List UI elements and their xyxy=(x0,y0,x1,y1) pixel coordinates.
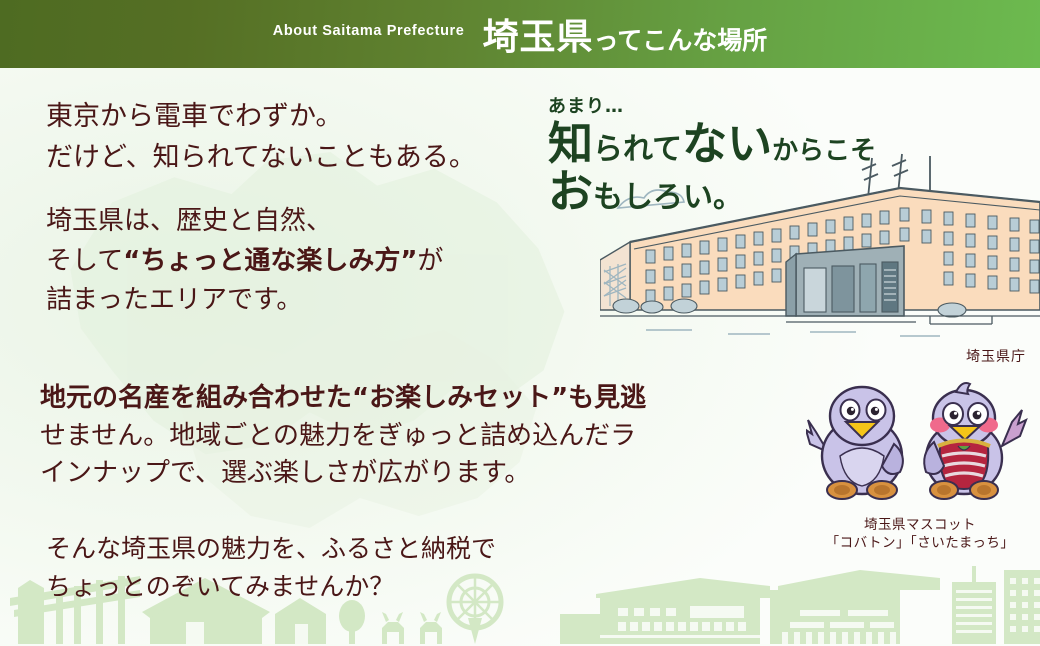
para2-emphasis: “ちょっと通な楽しみ方” xyxy=(123,246,417,276)
office-caption: 埼玉県庁 xyxy=(966,346,1026,366)
para1-line1: 東京から電車でわずか。 xyxy=(46,101,342,132)
intro-copy-block: 東京から電車でわずか。 だけど、知られてないこともある。 埼玉県は、歴史と自然、… xyxy=(46,96,566,331)
mascot-illustration xyxy=(806,378,1038,513)
para3-line2: せません。地域ごとの魅力をぎゅっと詰め込んだラ xyxy=(40,418,780,456)
page-title: 埼玉県ってこんな場所 xyxy=(482,8,767,60)
mascot-saitamacchi xyxy=(924,383,1026,499)
paragraph-1: 東京から電車でわずか。 だけど、知られてないこともある。 xyxy=(46,96,566,178)
header-title-suffix: ってこんな場所 xyxy=(593,26,767,55)
headline-line-1: 知られてないからこそ xyxy=(548,120,876,168)
closing-copy-block: そんな埼玉県の魅力を、ふるさと納税で ちょっとのぞいてみませんか？ xyxy=(46,530,726,605)
headline-l2-b: もしろい。 xyxy=(593,180,743,215)
para3-line3: インナップで、選ぶ楽しさが広がります。 xyxy=(40,455,780,493)
header-title-main: 埼玉県 xyxy=(482,17,593,58)
para2-line1: 埼玉県は、歴史と自然、 xyxy=(46,206,332,236)
headline-l1-d: からこそ xyxy=(772,136,876,166)
headline-l1-b: られて xyxy=(593,132,682,167)
header-english-label: About Saitama Prefecture xyxy=(273,23,465,39)
headline-l2-a: お xyxy=(548,165,593,218)
para2-line3: 詰まったエリアです。 xyxy=(46,285,302,315)
headline-l1-c: ない xyxy=(682,117,772,170)
product-copy-block: 地元の名産を組み合わせた“お楽しみセット”も見逃 せません。地域ごとの魅力をぎゅ… xyxy=(40,380,780,493)
mascot-kobaton xyxy=(806,387,903,499)
para2-line2-pre: そして xyxy=(46,246,123,276)
page-header: About Saitama Prefecture 埼玉県ってこんな場所 xyxy=(0,0,1040,68)
para3-line1: 地元の名産を組み合わせた“お楽しみセット”も見逃 xyxy=(40,380,780,418)
paragraph-2: 埼玉県は、歴史と自然、 そして“ちょっと通な楽しみ方”が 詰まったエリアです。 xyxy=(46,202,566,321)
para1-line2: だけど、知られてないこともある。 xyxy=(46,142,476,173)
para4-line2: ちょっとのぞいてみませんか？ xyxy=(46,568,726,606)
para4-line1: そんな埼玉県の魅力を、ふるさと納税で xyxy=(46,530,726,568)
mascot-caption: 埼玉県マスコット 「コバトン」「さいたまっち」 xyxy=(800,516,1040,552)
mascot-caption-line1: 埼玉県マスコット xyxy=(800,516,1040,534)
headline-line-2: おもしろい。 xyxy=(548,168,876,216)
headline-block: あまり… 知られてないからこそ おもしろい。 xyxy=(548,92,876,215)
headline-kicker: あまり… xyxy=(548,92,876,118)
para2-line2-post: が xyxy=(417,246,443,276)
mascot-caption-line2: 「コバトン」「さいたまっち」 xyxy=(800,534,1040,552)
office-entrance xyxy=(786,246,904,316)
headline-l1-a: 知 xyxy=(548,117,593,170)
paragraph-spacer xyxy=(46,188,566,202)
poster-root: About Saitama Prefecture 埼玉県ってこんな場所 xyxy=(0,0,1040,646)
